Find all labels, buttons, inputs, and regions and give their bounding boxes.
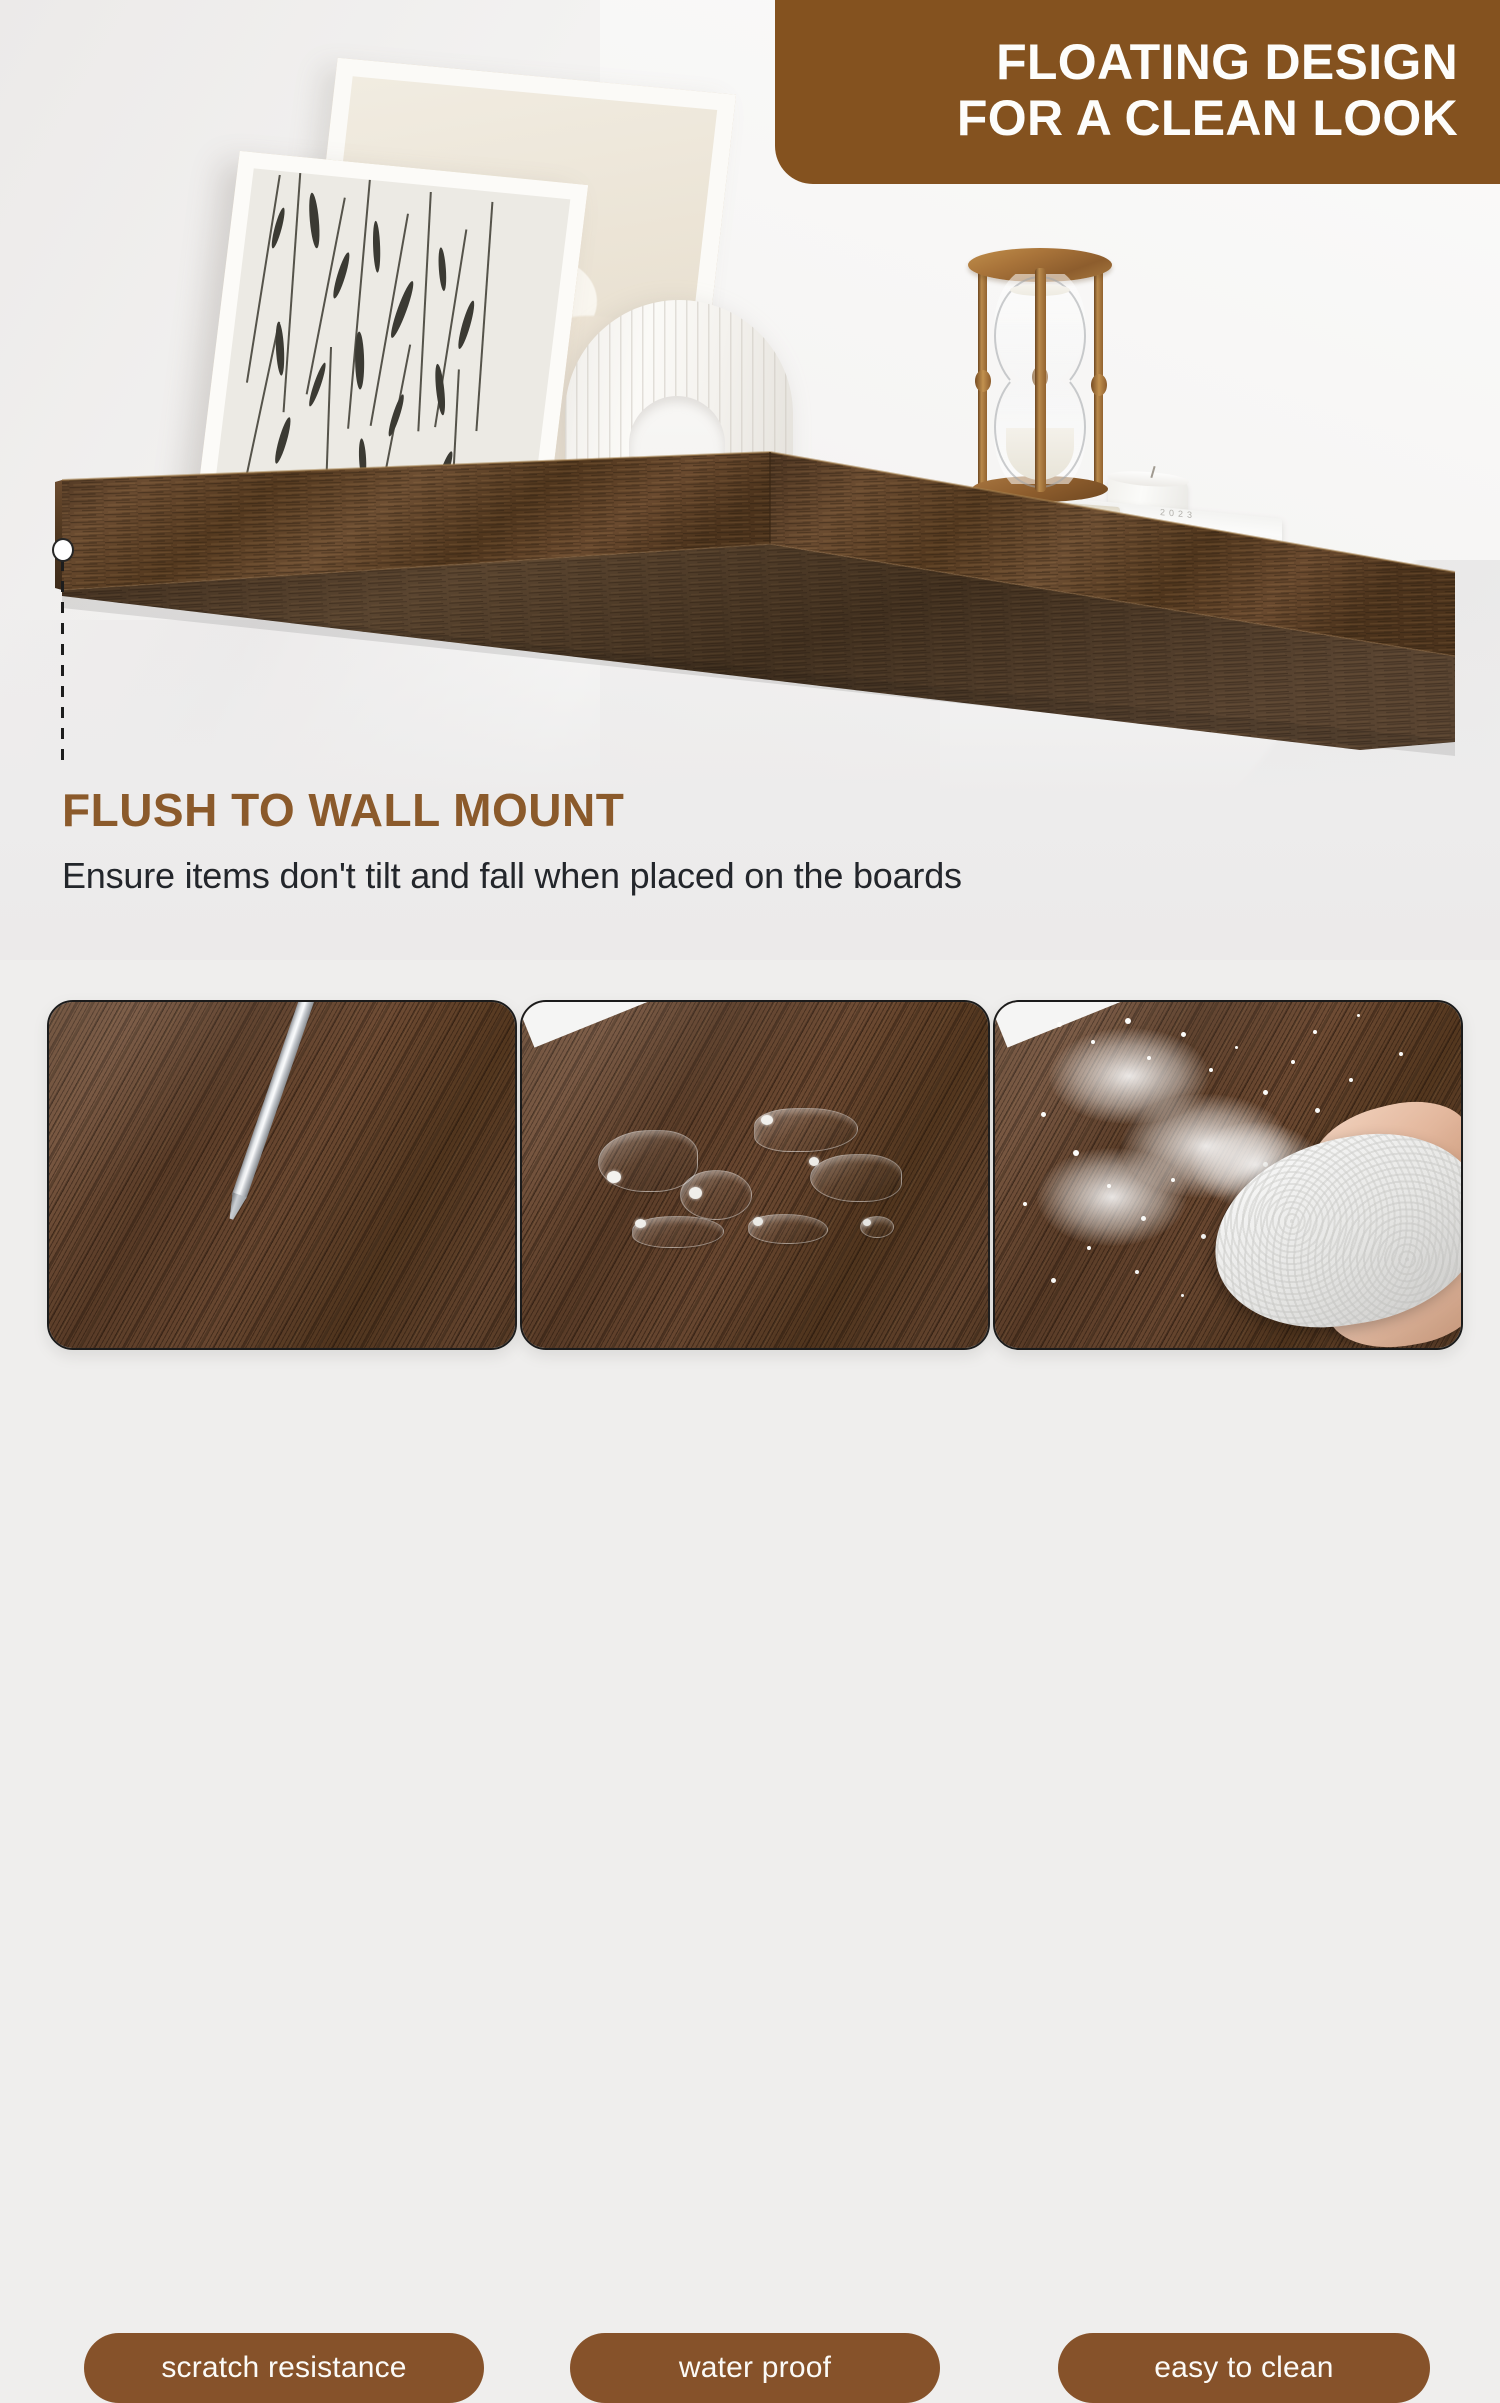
banner-line-1: FLOATING DESIGN bbox=[996, 34, 1458, 90]
floating-wood-shelf bbox=[0, 440, 1500, 770]
floating-design-banner: FLOATING DESIGN FOR A CLEAN LOOK bbox=[775, 0, 1500, 184]
panel-sheen bbox=[995, 1002, 1461, 1348]
hero-title: FLUSH TO WALL MOUNT bbox=[62, 783, 624, 837]
flush-mount-marker-icon bbox=[52, 538, 74, 562]
feature-image-easy-to-clean bbox=[993, 1000, 1463, 1350]
flush-mount-dashed-line bbox=[61, 560, 64, 760]
hero-subtitle: Ensure items don't tilt and fall when pl… bbox=[62, 855, 962, 897]
feature-image-water-proof bbox=[520, 1000, 990, 1350]
feature-panels-section: scratch resistance water proof easy to c… bbox=[0, 960, 1500, 1500]
hourglass-knob-left bbox=[975, 370, 991, 392]
hourglass-knob-right bbox=[1091, 374, 1107, 396]
feature-image-scratch-resistance bbox=[47, 1000, 517, 1350]
panel-sheen bbox=[522, 1002, 988, 1348]
feature-label-easy-to-clean[interactable]: easy to clean bbox=[1058, 2333, 1430, 2403]
panel-sheen bbox=[49, 1002, 515, 1348]
feature-label-water-proof[interactable]: water proof bbox=[570, 2333, 940, 2403]
banner-line-2: FOR A CLEAN LOOK bbox=[957, 90, 1458, 146]
feature-label-scratch-resistance[interactable]: scratch resistance bbox=[84, 2333, 484, 2403]
